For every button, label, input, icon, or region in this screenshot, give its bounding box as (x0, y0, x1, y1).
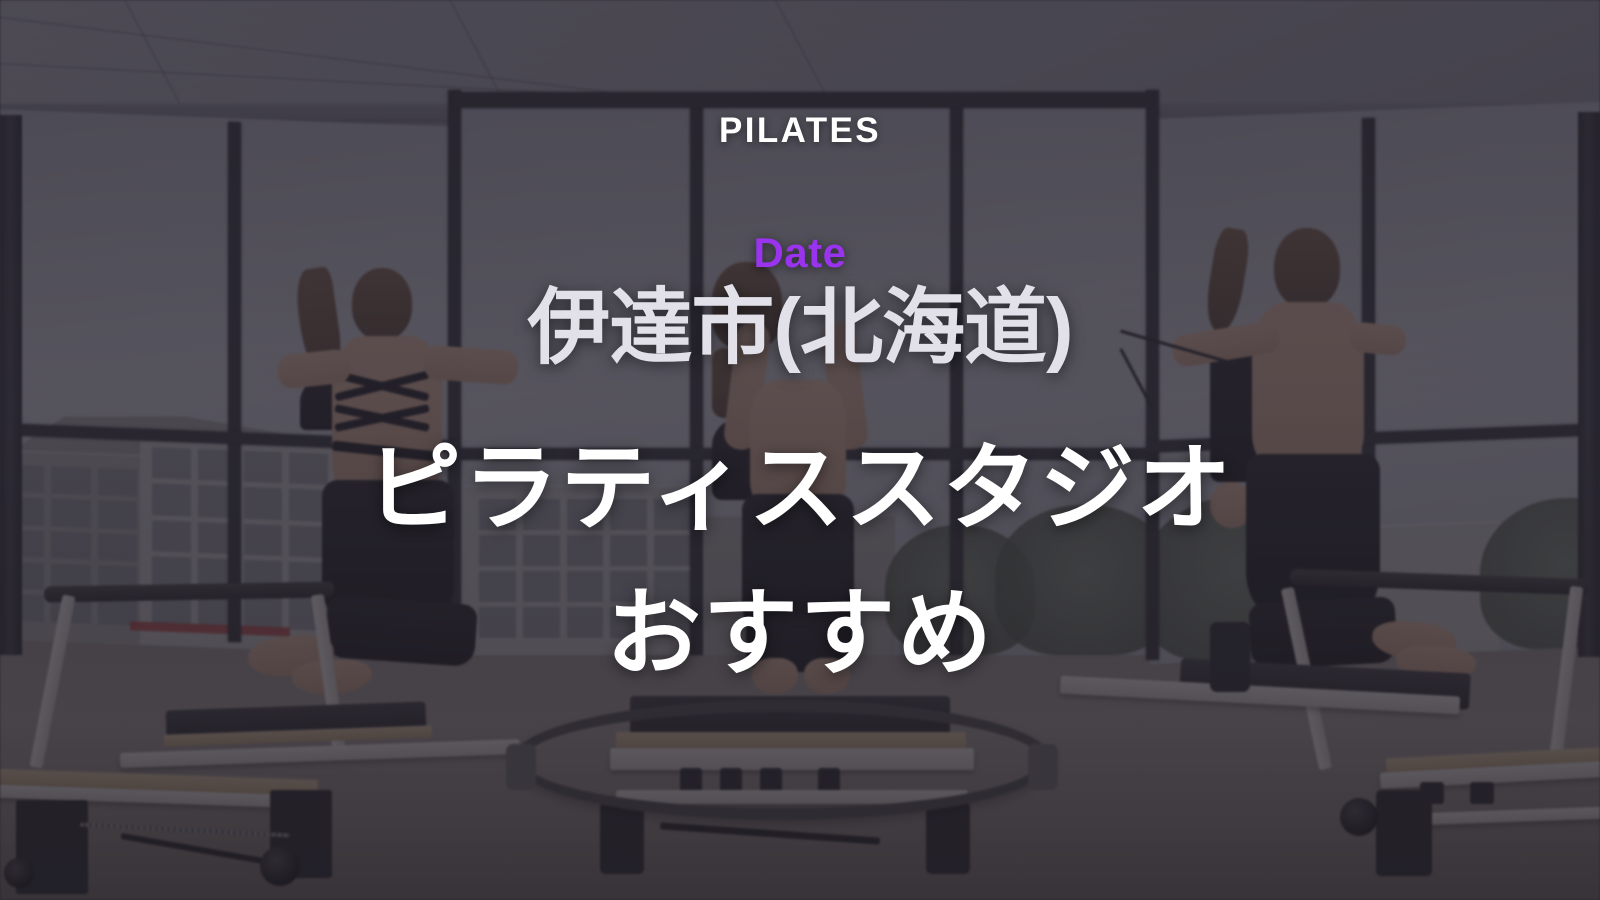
date-label: Date (753, 232, 846, 274)
banner-content: PILATES Date 伊達市(北海道) ピラティススタジオ おすすめ (0, 0, 1600, 900)
headline-line-2: おすすめ (366, 562, 1233, 706)
eyebrow-label: PILATES (719, 113, 881, 148)
pilates-banner: PILATES Date 伊達市(北海道) ピラティススタジオ おすすめ (0, 0, 1600, 900)
city-title: 伊達市(北海道) (527, 282, 1072, 373)
headline: ピラティススタジオ おすすめ (366, 417, 1233, 706)
headline-line-1: ピラティススタジオ (366, 436, 1233, 542)
